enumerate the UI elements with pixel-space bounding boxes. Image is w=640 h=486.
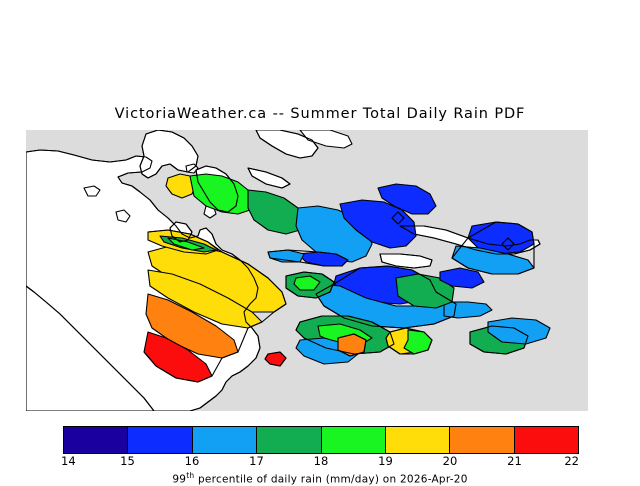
- colorbar-tick-15: 15: [120, 454, 135, 468]
- map-svg: [0, 126, 640, 411]
- weather-map-page: VictoriaWeather.ca -- Summer Total Daily…: [0, 0, 640, 480]
- colorbar-tick-17: 17: [249, 454, 264, 468]
- colorbar-band-16-17: [193, 427, 257, 453]
- colorbar-band-14-15: [64, 427, 128, 453]
- colorbar-tick-16: 16: [185, 454, 200, 468]
- colorbar-ticks: 141516171819202122: [0, 454, 640, 470]
- colorbar-band-18-19: [322, 427, 386, 453]
- caption-superscript: th: [186, 471, 194, 480]
- page-title: VictoriaWeather.ca -- Summer Total Daily…: [0, 106, 640, 122]
- colorbar-bands: [63, 426, 579, 454]
- colorbar: 141516171819202122 99th percentile of da…: [0, 418, 640, 480]
- colorbar-tick-22: 22: [564, 454, 579, 468]
- colorbar-band-15-16: [128, 427, 192, 453]
- colorbar-band-17-18: [257, 427, 321, 453]
- colorbar-caption: 99th percentile of daily rain (mm/day) o…: [0, 471, 640, 486]
- colorbar-tick-20: 20: [443, 454, 458, 468]
- colorbar-tick-19: 19: [378, 454, 393, 468]
- colorbar-tick-21: 21: [507, 454, 522, 468]
- colorbar-tick-14: 14: [61, 454, 76, 468]
- colorbar-band-20-21: [450, 427, 514, 453]
- colorbar-tick-18: 18: [314, 454, 329, 468]
- colorbar-band-19-20: [386, 427, 450, 453]
- map-canvas: [0, 126, 640, 411]
- colorbar-band-21-22: [515, 427, 578, 453]
